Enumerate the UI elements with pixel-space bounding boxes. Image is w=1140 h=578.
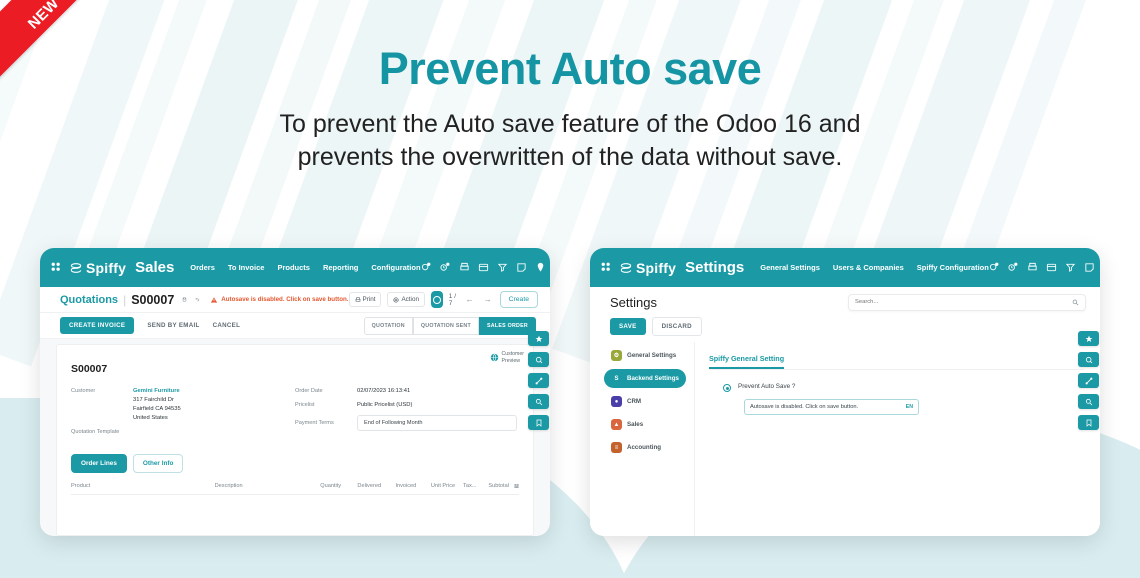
debug-icon[interactable]	[478, 262, 489, 273]
field-customer-street: 317 Fairchild Dr	[133, 397, 174, 403]
expand-arrow-icon[interactable]	[1078, 373, 1099, 388]
stage-quotation-sent[interactable]: QUOTATION SENT	[413, 317, 479, 335]
breadcrumb-separator: |	[123, 293, 126, 307]
sales-nav-menu: Orders To Invoice Products Reporting Con…	[190, 263, 420, 272]
settings-section-header: Spiffy General Setting	[709, 348, 1084, 369]
action-button-label: Action	[401, 296, 419, 303]
nav-item-users-companies[interactable]: Users & Companies	[833, 263, 904, 272]
brand-name: Spiffy	[636, 260, 676, 276]
sidebar-item-backend-settings[interactable]: S Backend Settings	[604, 369, 686, 388]
sales-app-window: Spiffy Sales Orders To Invoice Products …	[40, 248, 550, 536]
settings-gear-icon: ⚙	[611, 350, 622, 361]
settings-page-title: Settings	[610, 295, 657, 310]
col-tax: Tax...	[463, 483, 488, 489]
prevent-auto-save-label: Prevent Auto Save ?	[738, 383, 795, 390]
sidebar-item-crm[interactable]: ● CRM	[604, 392, 686, 411]
note-icon[interactable]	[1084, 262, 1095, 273]
autosave-warning-text: Autosave is disabled. Click on save butt…	[221, 296, 348, 303]
field-pricelist-label: Pricelist	[295, 401, 357, 410]
section-title-spiffy-general-setting: Spiffy General Setting	[709, 354, 784, 369]
order-lines-table-header: Product Description Quantity Delivered I…	[71, 483, 519, 495]
create-button[interactable]: Create	[500, 291, 538, 308]
messages-icon[interactable]	[421, 262, 432, 273]
debug-icon[interactable]	[1046, 262, 1057, 273]
col-quantity: Quantity	[320, 483, 357, 489]
discard-undo-icon[interactable]	[195, 295, 200, 304]
settings-content: Spiffy General Setting Prevent Auto Save…	[695, 342, 1100, 536]
stage-pipeline: QUOTATION QUOTATION SENT SALES ORDER	[364, 317, 536, 335]
tab-order-lines[interactable]: Order Lines	[71, 454, 127, 473]
save-button[interactable]: SAVE	[610, 318, 646, 335]
brand-name: Spiffy	[86, 260, 126, 276]
brand-logo[interactable]: Spiffy	[69, 260, 126, 276]
sidebar-label-accounting: Accounting	[627, 444, 661, 451]
sales-float-toolbar	[528, 331, 549, 430]
nav-item-reporting[interactable]: Reporting	[323, 263, 358, 272]
col-unit-price: Unit Price	[431, 483, 463, 489]
nav-item-products[interactable]: Products	[277, 263, 310, 272]
page-subtitle-line1: To prevent the Auto save feature of the …	[280, 110, 861, 138]
sidebar-label-general-settings: General Settings	[627, 352, 676, 359]
spiffy-logo-icon	[69, 261, 83, 275]
sidebar-label-sales: Sales	[627, 421, 643, 428]
field-payment-terms-label: Payment Terms	[295, 419, 357, 426]
customer-preview-line1: Customer	[502, 351, 525, 358]
brand-logo[interactable]: Spiffy	[619, 260, 676, 276]
star-icon[interactable]	[528, 331, 549, 346]
search-input[interactable]	[855, 299, 1072, 305]
sidebar-label-crm: CRM	[627, 398, 641, 405]
discard-button[interactable]: DISCARD	[652, 317, 702, 336]
sales-sheet-wrapper: Customer Preview S00007 Customer Gemini …	[40, 339, 550, 536]
bookmark-icon[interactable]	[528, 415, 549, 430]
messages-icon[interactable]	[989, 262, 1000, 273]
sidebar-label-backend-settings: Backend Settings	[627, 375, 679, 382]
customer-preview-button[interactable]: Customer Preview	[490, 351, 525, 364]
breadcrumb-root[interactable]: Quotations	[60, 294, 118, 306]
sidebar-item-sales[interactable]: ▲ Sales	[604, 415, 686, 434]
action-button[interactable]: Action	[387, 292, 425, 307]
note-icon[interactable]	[516, 262, 527, 273]
sidebar-item-general-settings[interactable]: ⚙ General Settings	[604, 346, 686, 365]
create-invoice-button[interactable]: CREATE INVOICE	[60, 317, 134, 334]
poster-root: NEW Prevent Auto save To prevent the Aut…	[0, 0, 1140, 578]
nav-item-orders[interactable]: Orders	[190, 263, 215, 272]
new-ribbon-label: NEW	[25, 0, 63, 33]
field-payment-terms: Payment Terms End of Following Month	[295, 415, 519, 431]
location-icon[interactable]	[535, 262, 546, 273]
form-right-column: Order Date 02/07/2023 16:13:41 Pricelist…	[295, 387, 519, 440]
settings-search-box[interactable]	[848, 294, 1086, 311]
headline-block: Prevent Auto save To prevent the Auto sa…	[0, 44, 1140, 175]
sales-app-title: Sales	[135, 259, 174, 276]
filter-icon[interactable]	[497, 262, 508, 273]
grid-apps-icon[interactable]	[600, 261, 613, 274]
globe-icon	[490, 353, 499, 362]
gear-icon	[393, 297, 399, 303]
control-panel-right: Print Action 1 / 7 ← → Create	[349, 291, 539, 308]
sales-chart-icon: ▲	[611, 419, 622, 430]
field-customer-label: Customer	[71, 387, 133, 423]
field-order-date-value[interactable]: 02/07/2023 16:13:41	[357, 387, 410, 396]
grid-apps-icon[interactable]	[50, 261, 63, 274]
search-circle-icon[interactable]	[1078, 352, 1099, 367]
expand-arrow-icon[interactable]	[528, 373, 549, 388]
sales-control-panel: Quotations | S00007 Autosave is disabled…	[40, 287, 550, 313]
print-icon[interactable]	[1027, 262, 1038, 273]
col-subtotal: Subtotal	[488, 483, 509, 489]
field-customer-city: Fairfield CA 94535	[133, 406, 181, 412]
nav-item-to-invoice[interactable]: To Invoice	[228, 263, 265, 272]
sales-status-bar: CREATE INVOICE SEND BY EMAIL CANCEL QUOT…	[40, 313, 550, 339]
col-product: Product	[71, 483, 215, 489]
warning-triangle-icon	[210, 296, 218, 304]
section-divider	[709, 369, 1084, 370]
settings-nav-menu: General Settings Users & Companies Spiff…	[760, 263, 989, 272]
print-button[interactable]: Print	[349, 292, 382, 307]
field-customer-value[interactable]: Gemini Furniture	[133, 388, 180, 394]
prevent-auto-save-option: Prevent Auto Save ?	[709, 383, 1084, 392]
cancel-button[interactable]: CANCEL	[213, 322, 241, 329]
col-invoiced: Invoiced	[395, 483, 430, 489]
field-pricelist: Pricelist Public Pricelist (USD)	[295, 401, 519, 410]
settings-float-toolbar	[1078, 331, 1099, 430]
notebook-tabs: Order Lines Other Info	[71, 454, 519, 473]
filter-icon[interactable]	[1065, 262, 1076, 273]
field-quotation-template: Quotation Template	[71, 428, 295, 435]
search-icon[interactable]	[1072, 299, 1079, 306]
zoom-icon[interactable]	[528, 394, 549, 409]
nav-item-general-settings[interactable]: General Settings	[760, 263, 820, 272]
field-quotation-template-label: Quotation Template	[71, 428, 119, 435]
sales-navbar: Spiffy Sales Orders To Invoice Products …	[40, 248, 550, 287]
language-badge[interactable]: EN	[906, 404, 913, 410]
tab-other-info[interactable]: Other Info	[133, 454, 184, 473]
send-by-email-button[interactable]: SEND BY EMAIL	[147, 322, 199, 329]
pager-counter: 1 / 7	[449, 293, 458, 307]
activities-icon[interactable]	[440, 262, 451, 273]
star-icon[interactable]	[1078, 331, 1099, 346]
field-order-date-label: Order Date	[295, 387, 357, 396]
settings-app-title: Settings	[685, 259, 744, 276]
save-cloud-icon[interactable]	[182, 295, 187, 304]
sales-navbar-right	[421, 258, 550, 277]
autosave-warning: Autosave is disabled. Click on save butt…	[210, 296, 348, 304]
spiffy-logo-icon: S	[611, 373, 622, 384]
form-grid: Customer Gemini Furniture 317 Fairchild …	[71, 387, 519, 440]
crm-icon: ●	[611, 396, 622, 407]
page-subtitle-line2: prevents the overwritten of the data wit…	[298, 143, 843, 171]
search-circle-icon[interactable]	[528, 352, 549, 367]
field-customer-country: United States	[133, 415, 168, 421]
nav-item-spiffy-configuration[interactable]: Spiffy Configuration	[917, 263, 989, 272]
nav-item-configuration[interactable]: Configuration	[371, 263, 420, 272]
col-description: Description	[215, 483, 321, 489]
settings-app-window: Spiffy Settings General Settings Users &…	[590, 248, 1100, 536]
column-settings-icon[interactable]	[514, 483, 519, 489]
record-title: S00007	[71, 363, 519, 375]
form-left-column: Customer Gemini Furniture 317 Fairchild …	[71, 387, 295, 440]
page-title: Prevent Auto save	[0, 44, 1140, 94]
field-order-date: Order Date 02/07/2023 16:13:41	[295, 387, 519, 396]
page-subtitle: To prevent the Auto save feature of the …	[0, 108, 1140, 176]
settings-navbar-right	[989, 258, 1100, 277]
record-circle-icon[interactable]	[431, 291, 443, 308]
print-icon	[355, 297, 361, 303]
breadcrumb-current: S00007	[131, 293, 174, 307]
settings-action-bar: SAVE DISCARD	[590, 317, 1100, 342]
payment-terms-input[interactable]: End of Following Month	[357, 415, 517, 431]
sidebar-item-accounting[interactable]: ≡ Accounting	[604, 438, 686, 457]
print-icon[interactable]	[459, 262, 470, 273]
spiffy-logo-icon	[619, 261, 633, 275]
activities-icon[interactable]	[1008, 262, 1019, 273]
stage-quotation[interactable]: QUOTATION	[364, 317, 413, 335]
bookmark-icon[interactable]	[1078, 415, 1099, 430]
chevron-right-icon[interactable]: →	[482, 295, 494, 304]
autosave-message-value: Autosave is disabled. Click on save butt…	[750, 404, 858, 410]
sales-form-sheet: Customer Preview S00007 Customer Gemini …	[56, 344, 534, 536]
settings-navbar: Spiffy Settings General Settings Users &…	[590, 248, 1100, 287]
chevron-left-icon[interactable]: ←	[464, 295, 476, 304]
prevent-auto-save-checkbox[interactable]	[723, 384, 731, 392]
settings-sidebar: ⚙ General Settings S Backend Settings ● …	[590, 342, 695, 536]
print-button-label: Print	[363, 296, 376, 303]
field-pricelist-value[interactable]: Public Pricelist (USD)	[357, 401, 412, 410]
settings-body: ⚙ General Settings S Backend Settings ● …	[590, 342, 1100, 536]
customer-preview-line2: Preview	[502, 358, 525, 365]
accounting-icon: ≡	[611, 442, 622, 453]
settings-header: Settings	[590, 287, 1100, 317]
zoom-icon[interactable]	[1078, 394, 1099, 409]
field-customer: Customer Gemini Furniture 317 Fairchild …	[71, 387, 295, 423]
autosave-message-input[interactable]: Autosave is disabled. Click on save butt…	[744, 399, 919, 415]
col-delivered: Delivered	[357, 483, 395, 489]
